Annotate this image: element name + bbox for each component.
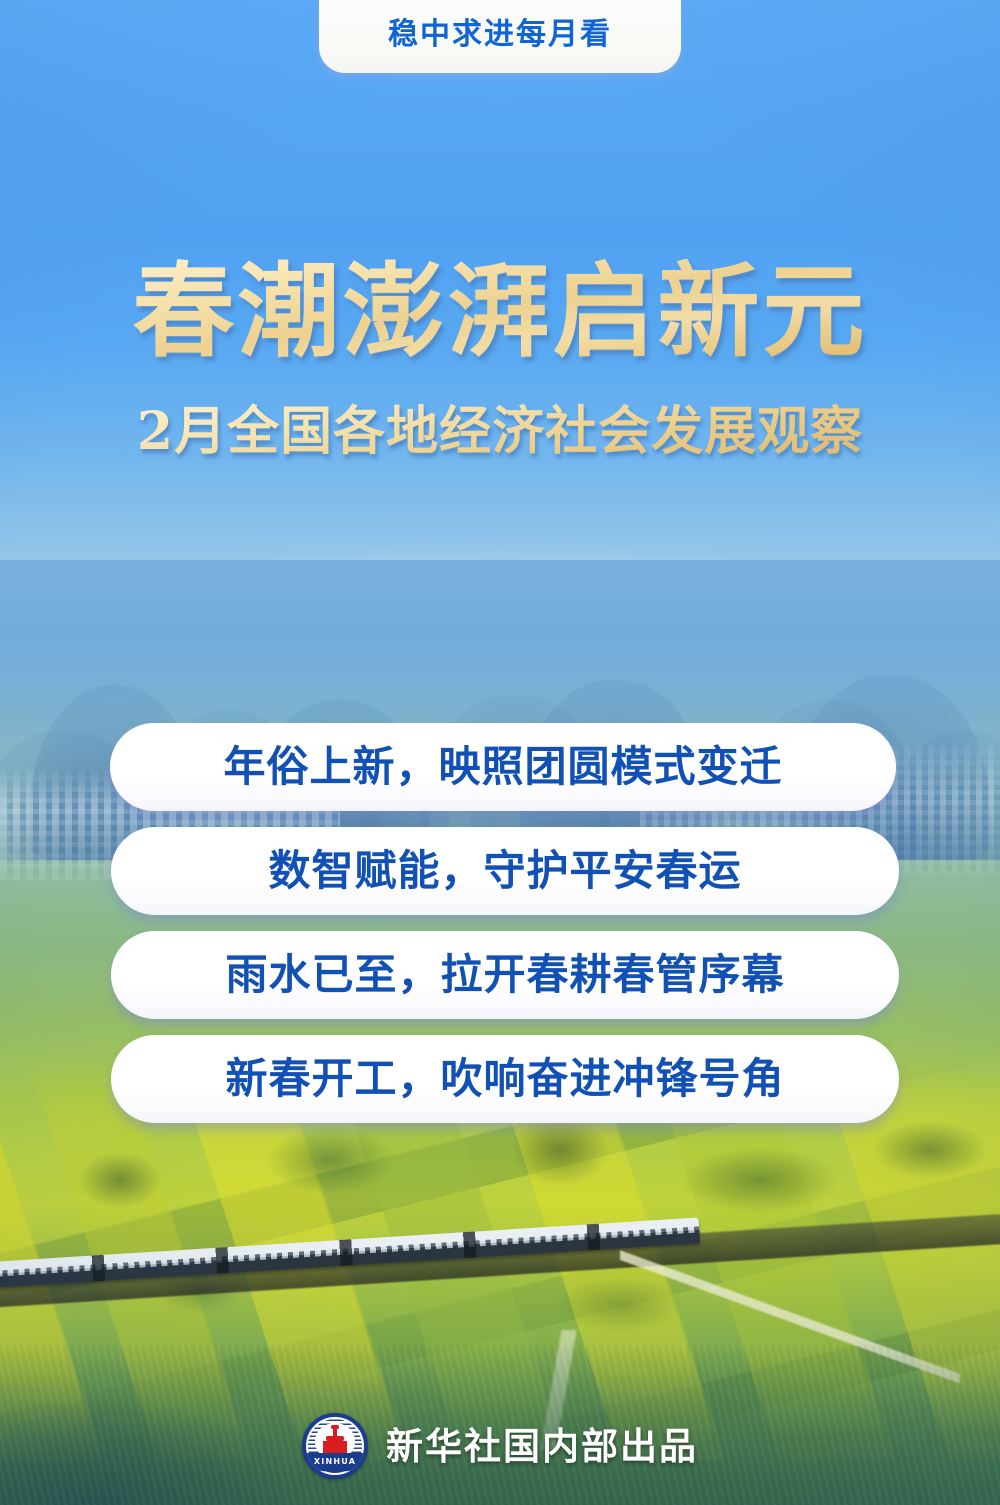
- poster-root: 稳中求进每月看 春潮澎湃启新元 2月全国各地经济社会发展观察 年俗上新，映照团圆…: [0, 0, 1000, 1505]
- headline-card[interactable]: 新春开工，吹响奋进冲锋号角: [111, 1035, 899, 1123]
- page-title: 春潮澎湃启新元: [0, 255, 1000, 369]
- headline-card-label: 雨水已至，拉开春耕春管序幕: [225, 954, 784, 996]
- series-banner-tab: 稳中求进每月看: [319, 0, 681, 73]
- headline-card[interactable]: 雨水已至，拉开春耕春管序幕: [111, 931, 899, 1019]
- headline-card-label: 数智赋能，守护平安春运: [268, 850, 741, 892]
- headline-card[interactable]: 数智赋能，守护平安春运: [111, 827, 899, 915]
- footer-credit: 新华社国内部出品: [386, 1428, 698, 1465]
- headline-card-label: 新春开工，吹响奋进冲锋号角: [225, 1058, 784, 1100]
- page-subtitle: 2月全国各地经济社会发展观察: [0, 403, 1000, 460]
- series-banner-label: 稳中求进每月看: [388, 20, 612, 54]
- footer: XINHUA 新华社国内部出品: [0, 1413, 1000, 1479]
- title-block: 春潮澎湃启新元 2月全国各地经济社会发展观察: [0, 255, 1000, 460]
- headline-card[interactable]: 年俗上新，映照团圆模式变迁: [110, 723, 896, 811]
- xinhua-logo-icon: XINHUA: [302, 1413, 368, 1479]
- headline-card-label: 年俗上新，映照团圆模式变迁: [223, 746, 782, 788]
- headline-card-list: 年俗上新，映照团圆模式变迁 数智赋能，守护平安春运 雨水已至，拉开春耕春管序幕 …: [0, 723, 1000, 1139]
- xinhua-logo-wordmark: XINHUA: [314, 1457, 356, 1466]
